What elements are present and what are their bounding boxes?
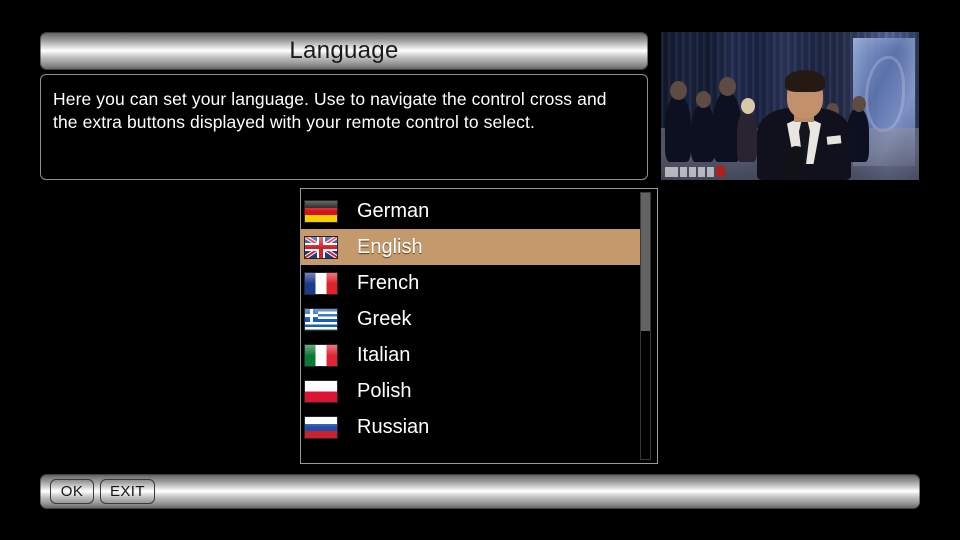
- english-flag-icon: [304, 236, 338, 259]
- preview-crowd-head: [719, 77, 736, 96]
- language-list[interactable]: German English French: [301, 193, 643, 445]
- ok-button[interactable]: OK: [50, 479, 94, 504]
- preview-crowd-head: [852, 96, 866, 112]
- language-list-panel[interactable]: German English French: [300, 188, 658, 464]
- list-item[interactable]: Italian: [301, 337, 643, 373]
- page-title-bar: Language: [40, 32, 648, 70]
- list-item[interactable]: English: [301, 229, 643, 265]
- russian-flag-icon: [304, 416, 338, 439]
- bottom-action-bar: OK EXIT: [40, 474, 920, 509]
- preview-channel-watermark: [665, 166, 725, 177]
- preview-crowd-person: [691, 104, 715, 162]
- preview-reporter-pocket-square: [827, 135, 842, 144]
- tv-settings-screen: Language Here you can set your language.…: [0, 0, 960, 540]
- french-flag-icon: [304, 272, 338, 295]
- list-item[interactable]: German: [301, 193, 643, 229]
- list-item[interactable]: Russian: [301, 409, 643, 445]
- list-item-label: German: [357, 201, 429, 221]
- list-item-label: Russian: [357, 417, 429, 437]
- preview-crowd-person: [665, 96, 691, 162]
- polish-flag-icon: [304, 380, 338, 403]
- list-item-label: English: [357, 237, 423, 257]
- help-text-box: Here you can set your language. Use to n…: [40, 74, 648, 180]
- list-item-label: French: [357, 273, 419, 293]
- italian-flag-icon: [304, 344, 338, 367]
- list-item[interactable]: Greek: [301, 301, 643, 337]
- preview-crowd-head: [670, 81, 687, 100]
- preview-crowd-person: [737, 110, 757, 162]
- scrollbar-track[interactable]: [640, 192, 651, 460]
- preview-crowd-head: [741, 98, 755, 114]
- preview-crowd-head: [696, 91, 711, 108]
- list-item[interactable]: French: [301, 265, 643, 301]
- preview-reporter-hair: [785, 70, 825, 92]
- list-item-label: Polish: [357, 381, 411, 401]
- list-item-label: Greek: [357, 309, 411, 329]
- live-tv-preview[interactable]: [661, 32, 919, 180]
- list-item[interactable]: Polish: [301, 373, 643, 409]
- greek-flag-icon: [304, 308, 338, 331]
- list-item-label: Italian: [357, 345, 410, 365]
- scrollbar-thumb[interactable]: [641, 193, 650, 331]
- exit-button[interactable]: EXIT: [100, 479, 155, 504]
- page-title: Language: [289, 39, 398, 63]
- german-flag-icon: [304, 200, 338, 223]
- help-text: Here you can set your language. Use to n…: [53, 88, 633, 135]
